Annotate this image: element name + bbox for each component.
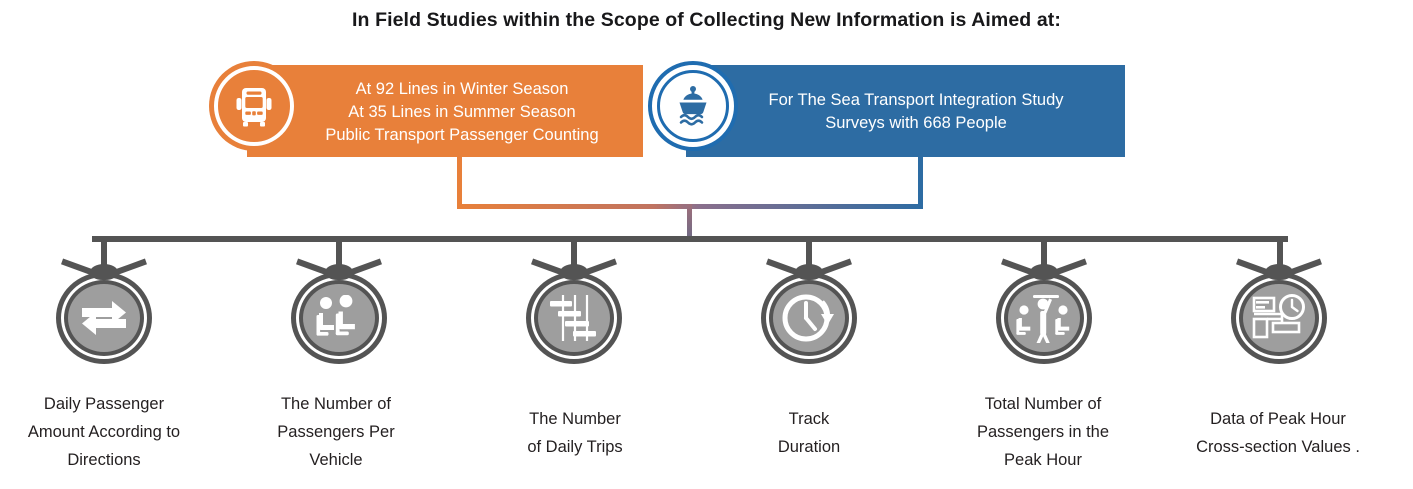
- connector-gradient-stem: [687, 204, 692, 240]
- node-glyph: [777, 287, 841, 349]
- crowded-vehicle-icon: [1015, 293, 1073, 343]
- seated-passengers-icon: [313, 295, 365, 341]
- outcome-node-peak-hour-cross-section[interactable]: [1229, 264, 1329, 364]
- node-body: [524, 272, 624, 364]
- node-glyph: [1012, 287, 1076, 349]
- caption-peak-hour-cross-section: Data of Peak Hour Cross-section Values .: [1178, 405, 1378, 461]
- node-glyph: [72, 287, 136, 349]
- caption-track-duration: Track Duration: [714, 405, 904, 461]
- node-glyph: [307, 287, 371, 349]
- node-body: [289, 272, 389, 364]
- top-box-sea-transport-survey[interactable]: For The Sea Transport Integration Study …: [686, 65, 1125, 157]
- connector-main-bar: [92, 236, 1288, 242]
- ship-icon: [669, 82, 717, 130]
- gantt-chart-icon: [547, 293, 601, 343]
- outcome-node-track-duration[interactable]: [759, 264, 859, 364]
- node-body: [759, 272, 859, 364]
- diagram-canvas: In Field Studies within the Scope of Col…: [0, 0, 1413, 489]
- node-glyph: [542, 287, 606, 349]
- caption-daily-trips: The Number of Daily Trips: [480, 405, 670, 461]
- node-body: [994, 272, 1094, 364]
- outcome-node-peak-hour-passengers[interactable]: [994, 264, 1094, 364]
- two-way-arrows-icon: [78, 296, 130, 340]
- node-body: [1229, 272, 1329, 364]
- bus-emblem: [209, 61, 299, 151]
- clock-arrow-icon: [782, 292, 836, 344]
- outcome-node-daily-trips[interactable]: [524, 264, 624, 364]
- bus-icon: [230, 82, 278, 130]
- outcome-node-daily-passenger-directions[interactable]: [54, 264, 154, 364]
- caption-daily-passenger-directions: Daily Passenger Amount According to Dire…: [8, 390, 200, 474]
- top-box-public-transport-counting[interactable]: At 92 Lines in Winter Season At 35 Lines…: [247, 65, 643, 157]
- outcome-node-passengers-per-vehicle[interactable]: [289, 264, 389, 364]
- connector-orange-descender: [457, 157, 462, 209]
- top-box-public-transport-text: At 92 Lines in Winter Season At 35 Lines…: [287, 78, 637, 147]
- caption-passengers-per-vehicle: The Number of Passengers Per Vehicle: [241, 390, 431, 474]
- ship-emblem: [648, 61, 738, 151]
- page-title: In Field Studies within the Scope of Col…: [0, 9, 1413, 32]
- report-clock-icon: [1251, 293, 1307, 343]
- top-box-sea-transport-text: For The Sea Transport Integration Study …: [721, 89, 1111, 135]
- node-body: [54, 272, 154, 364]
- node-glyph: [1247, 287, 1311, 349]
- connector-blue-descender: [918, 157, 923, 209]
- caption-peak-hour-passengers: Total Number of Passengers in the Peak H…: [948, 390, 1138, 474]
